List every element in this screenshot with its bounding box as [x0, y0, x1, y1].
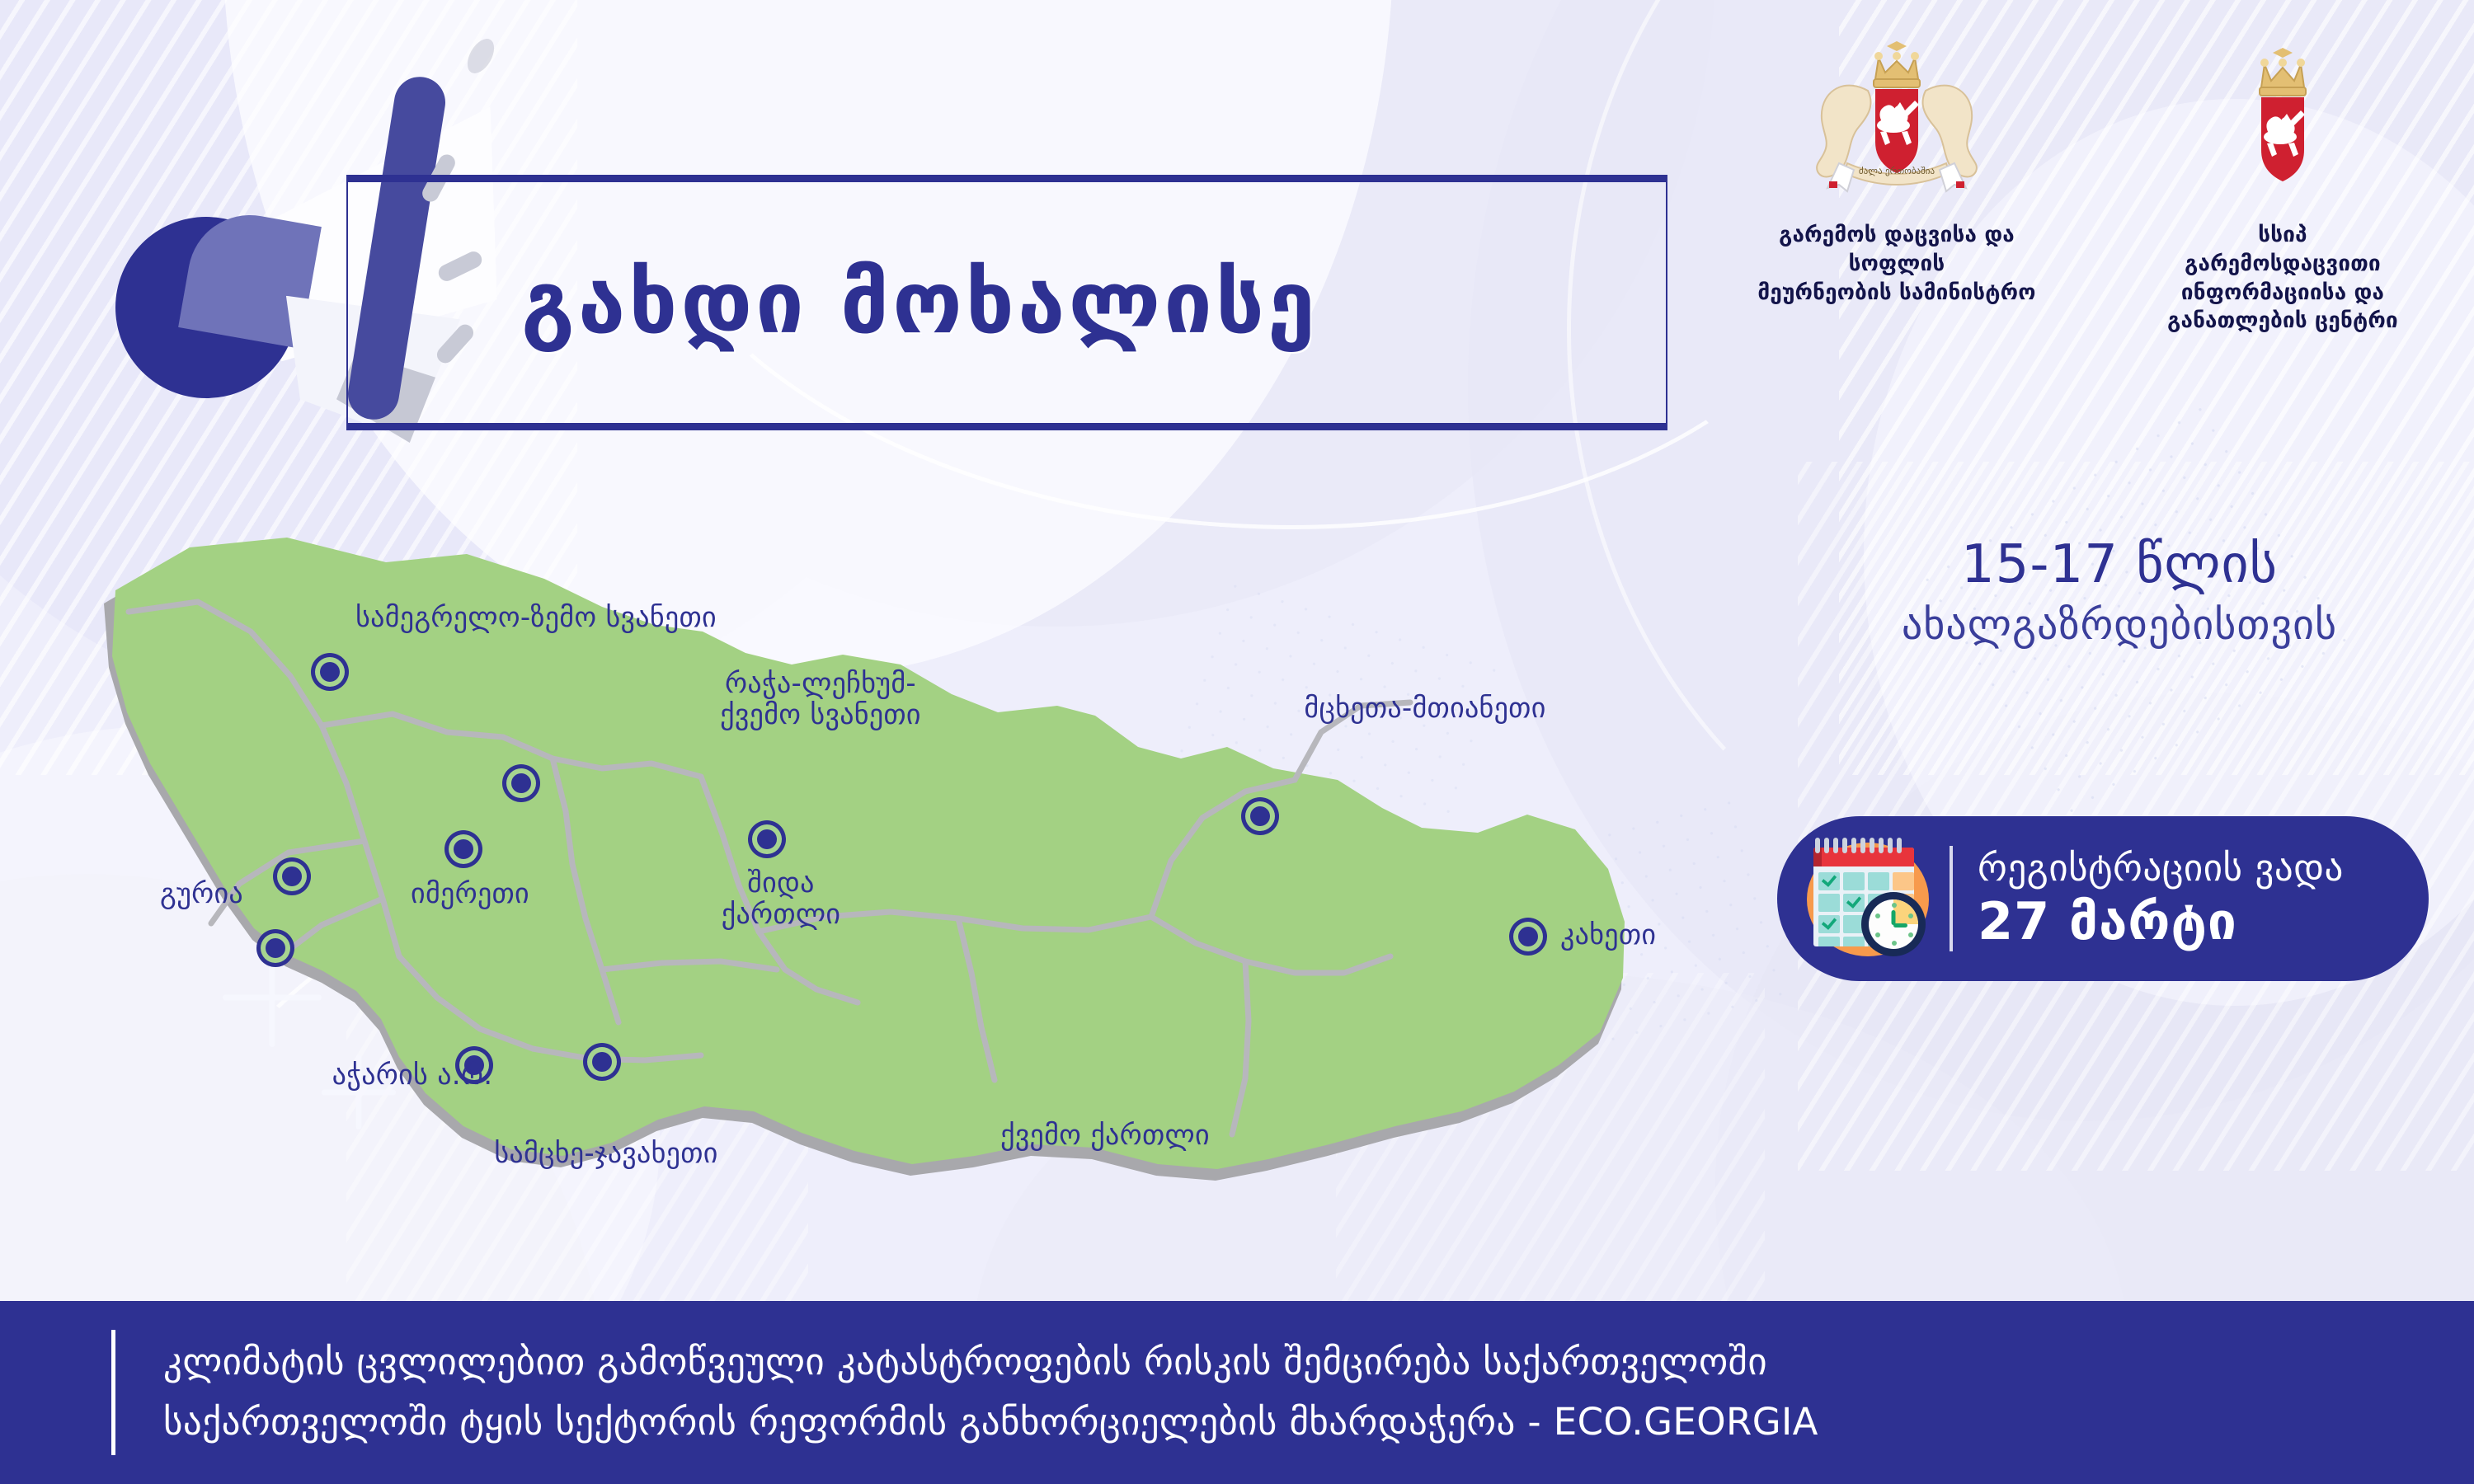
deadline-label: რეგისტრაციის ვადა [1978, 846, 2344, 890]
map-pin[interactable] [273, 857, 311, 895]
map-region-label: სამეგრელო-ზემო სვანეთი [355, 602, 717, 633]
footer-line-2: საქართველოში ტყის სექტორის რეფორმის განხ… [163, 1392, 1818, 1453]
map-pin[interactable] [256, 929, 294, 967]
deadline-text: რეგისტრაციის ვადა 27 მარტი [1978, 846, 2344, 951]
logo-caption-line: სსიპ გარემოსდაცვითი [2159, 221, 2406, 279]
clock-minute-hand [1893, 923, 1907, 927]
pin-core [511, 773, 531, 793]
map-region-label: შიდა ქართლი [722, 867, 841, 930]
age-range-block: 15-17 წლის ახალგაზრდებისთვის [1806, 536, 2433, 648]
registration-deadline-badge[interactable]: რეგისტრაციის ვადა 27 მარტი [1777, 816, 2429, 981]
svg-text:ძალა ერთობაშია: ძალა ერთობაშია [1859, 166, 1935, 176]
logo-caption-line: განათლების ცენტრი [2159, 307, 2406, 336]
georgia-coat-of-arms-icon: ძალა ერთობაშია [1790, 40, 2004, 208]
badge-divider [1950, 846, 1953, 951]
pin-core [1518, 927, 1538, 946]
logo-caption-line: ინფორმაციისა და [2159, 279, 2406, 308]
georgia-small-coat-of-arms-icon [2233, 40, 2332, 208]
infographic-canvas: გახდი მოხალისე [0, 0, 2474, 1484]
calendar-cell [1868, 872, 1889, 890]
map-region-label: სამცხე-ჯავახეთი [494, 1138, 717, 1169]
pin-core [266, 938, 285, 958]
calendar-clock-icon [1802, 833, 1938, 965]
calendar-cell [1843, 894, 1865, 912]
pin-core [282, 866, 302, 886]
map-pin[interactable] [1509, 918, 1547, 956]
map-region-label: კახეთი [1560, 919, 1656, 951]
map-region-label: მცხეთა-მთიანეთი [1304, 693, 1545, 724]
age-range-sub: ახალგაზრდებისთვის [1806, 602, 2433, 648]
megaphone-sound-dash [462, 35, 500, 78]
page-title-box: გახდი მოხალისე [346, 175, 1667, 430]
map-region-label: იმერეთი [411, 878, 529, 909]
pin-core [454, 839, 473, 859]
clock-highlight [1893, 899, 1918, 924]
map-pin[interactable] [502, 764, 540, 802]
calendar-binding [1815, 838, 1902, 853]
logo-caption-line: მეურნეობის სამინისტრო [1732, 279, 2062, 308]
page-title: გახდი მოხალისე [521, 260, 1319, 345]
footer-line-1: კლიმატის ცვლილებით გამოწვეული კატასტროფე… [163, 1332, 1818, 1392]
map-region-label: ქვემო ქართლი [1000, 1120, 1210, 1151]
map-region-label: გურია [160, 878, 243, 909]
footer-banner: კლიმატის ცვლილებით გამოწვეული კატასტროფე… [0, 1301, 2474, 1484]
clock-icon [1861, 892, 1926, 956]
map-pin[interactable] [748, 820, 786, 858]
calendar-cell [1893, 872, 1914, 890]
map-pin[interactable] [1241, 797, 1279, 835]
logo-center-caption: სსიპ გარემოსდაცვითი ინფორმაციისა და განა… [2159, 221, 2406, 336]
georgia-map: სამეგრელო-ზემო სვანეთირაჭა-ლეჩხუმ- ქვემო… [74, 511, 1732, 1278]
deadline-date: 27 მარტი [1978, 891, 2344, 951]
pin-core [320, 662, 340, 682]
logo-caption-line: გარემოს დაცვისა და სოფლის [1732, 221, 2062, 279]
pin-core [757, 829, 777, 849]
calendar-cell [1818, 915, 1840, 933]
map-pin[interactable] [444, 830, 482, 868]
pin-core [592, 1052, 612, 1072]
map-region-label: აჭარის ა.რ. [332, 1059, 493, 1091]
logo-group: ძალა ერთობაშია გარემოს დაცვისა და სოფლის… [1732, 40, 2406, 336]
map-pin[interactable] [583, 1043, 621, 1081]
calendar-cell [1843, 937, 1865, 946]
logo-center: სსიპ გარემოსდაცვითი ინფორმაციისა და განა… [2159, 40, 2406, 336]
footer-text: კლიმატის ცვლილებით გამოწვეული კატასტროფე… [163, 1332, 1818, 1453]
calendar-cell [1818, 894, 1840, 912]
map-pin[interactable] [311, 653, 349, 691]
footer-accent-bar [111, 1330, 115, 1455]
age-range-main: 15-17 წლის [1961, 534, 2278, 595]
calendar-cell [1818, 872, 1840, 890]
logo-ministry: ძალა ერთობაშია გარემოს დაცვისა და სოფლის… [1732, 40, 2062, 336]
calendar-cell [1843, 872, 1865, 890]
calendar-cell [1818, 937, 1840, 946]
clock-face [1869, 899, 1918, 949]
logo-ministry-caption: გარემოს დაცვისა და სოფლის მეურნეობის სამ… [1732, 221, 2062, 307]
map-region-label: რაჭა-ლეჩხუმ- ქვემო სვანეთი [720, 668, 921, 730]
pin-core [1250, 806, 1270, 826]
